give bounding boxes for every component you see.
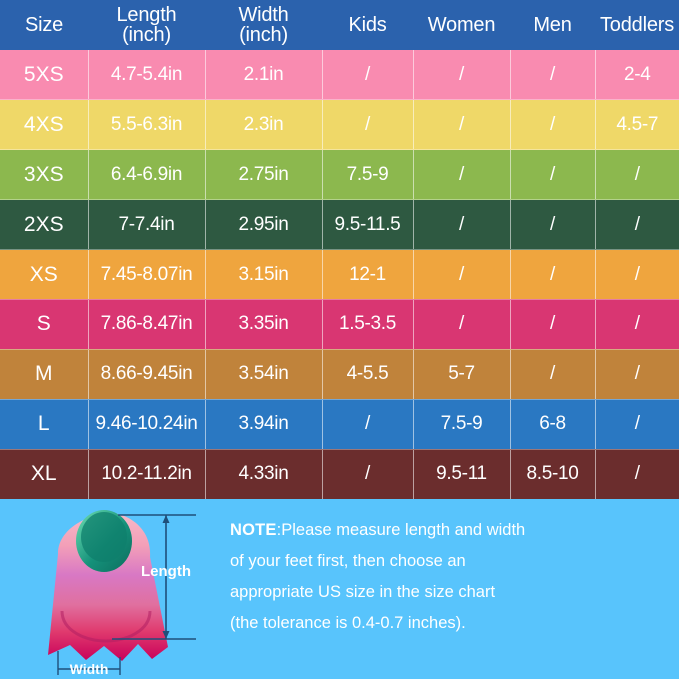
- column-header-size-label: Size: [25, 14, 63, 36]
- cell-length: 7.45-8.07in: [88, 250, 205, 300]
- table-row: 5XS4.7-5.4in2.1in///2-4: [0, 50, 679, 100]
- cell-toddlers: /: [595, 250, 679, 300]
- note-line-4: (the tolerance is 0.4-0.7 inches).: [230, 608, 665, 639]
- cell-length: 6.4-6.9in: [88, 150, 205, 200]
- note-text-block: NOTE:Please measure length and width of …: [212, 499, 679, 679]
- table-row: M8.66-9.45in3.54in4-5.55-7//: [0, 349, 679, 399]
- cell-kids: /: [322, 100, 413, 150]
- cell-kids: 9.5-11.5: [322, 200, 413, 250]
- cell-length: 10.2-11.2in: [88, 449, 205, 499]
- cell-width: 3.15in: [205, 250, 322, 300]
- cell-size: XS: [0, 250, 88, 300]
- table-row: 3XS6.4-6.9in2.75in7.5-9///: [0, 150, 679, 200]
- note-line-3: appropriate US size in the size chart: [230, 577, 665, 608]
- cell-width: 2.1in: [205, 50, 322, 100]
- length-arrow-up: [163, 515, 170, 523]
- cell-length: 4.7-5.4in: [88, 50, 205, 100]
- table-row: XL10.2-11.2in4.33in/9.5-118.5-10/: [0, 449, 679, 499]
- note-line-1-text: :Please measure length and width: [277, 521, 526, 539]
- note-label: NOTE: [230, 521, 277, 539]
- cell-women: 9.5-11: [413, 449, 510, 499]
- cell-toddlers: /: [595, 349, 679, 399]
- cell-women: 7.5-9: [413, 399, 510, 449]
- column-header-kids-label: Kids: [348, 14, 386, 36]
- column-header-length-unit: (inch): [90, 25, 203, 45]
- column-header-length: Length (inch): [88, 0, 205, 50]
- cell-width: 2.95in: [205, 200, 322, 250]
- column-header-width-label: Width: [238, 4, 288, 26]
- cell-women: /: [413, 150, 510, 200]
- column-header-kids: Kids: [322, 0, 413, 50]
- cell-men: 6-8: [510, 399, 595, 449]
- cell-size: M: [0, 349, 88, 399]
- cell-width: 3.94in: [205, 399, 322, 449]
- cell-women: /: [413, 250, 510, 300]
- table-row: XS7.45-8.07in3.15in12-1///: [0, 250, 679, 300]
- cell-men: 8.5-10: [510, 449, 595, 499]
- cell-length: 8.66-9.45in: [88, 349, 205, 399]
- cell-length: 9.46-10.24in: [88, 399, 205, 449]
- note-line-2: of your feet first, then choose an: [230, 546, 665, 577]
- table-row: L9.46-10.24in3.94in/7.5-96-8/: [0, 399, 679, 449]
- cell-men: /: [510, 299, 595, 349]
- width-label: Width: [70, 661, 109, 677]
- cell-kids: 1.5-3.5: [322, 299, 413, 349]
- column-header-width: Width (inch): [205, 0, 322, 50]
- size-chart-page: Size Length (inch) Width (inch) Kids Wom…: [0, 0, 679, 679]
- fin-foot-opening: [81, 512, 127, 562]
- cell-men: /: [510, 349, 595, 399]
- note-line-1: NOTE:Please measure length and width: [230, 515, 665, 546]
- cell-size: 3XS: [0, 150, 88, 200]
- cell-toddlers: /: [595, 399, 679, 449]
- cell-kids: /: [322, 50, 413, 100]
- cell-toddlers: 4.5-7: [595, 100, 679, 150]
- table-header: Size Length (inch) Width (inch) Kids Wom…: [0, 0, 679, 50]
- size-chart-table: Size Length (inch) Width (inch) Kids Wom…: [0, 0, 679, 499]
- cell-width: 4.33in: [205, 449, 322, 499]
- column-header-toddlers-label: Toddlers: [600, 14, 674, 36]
- cell-men: /: [510, 200, 595, 250]
- cell-kids: 12-1: [322, 250, 413, 300]
- table-row: 4XS5.5-6.3in2.3in///4.5-7: [0, 100, 679, 150]
- table-row: 2XS7-7.4in2.95in9.5-11.5///: [0, 200, 679, 250]
- fin-diagram: Length Width: [0, 499, 212, 679]
- cell-kids: /: [322, 449, 413, 499]
- cell-length: 5.5-6.3in: [88, 100, 205, 150]
- cell-length: 7-7.4in: [88, 200, 205, 250]
- cell-women: /: [413, 50, 510, 100]
- cell-kids: 4-5.5: [322, 349, 413, 399]
- cell-men: /: [510, 150, 595, 200]
- cell-toddlers: 2-4: [595, 50, 679, 100]
- cell-toddlers: /: [595, 299, 679, 349]
- column-header-length-label: Length: [117, 4, 177, 26]
- column-header-width-unit: (inch): [207, 25, 320, 45]
- cell-toddlers: /: [595, 150, 679, 200]
- length-label: Length: [141, 563, 191, 580]
- cell-men: /: [510, 100, 595, 150]
- cell-kids: /: [322, 399, 413, 449]
- cell-size: XL: [0, 449, 88, 499]
- header-row: Size Length (inch) Width (inch) Kids Wom…: [0, 0, 679, 50]
- column-header-men: Men: [510, 0, 595, 50]
- cell-women: 5-7: [413, 349, 510, 399]
- cell-length: 7.86-8.47in: [88, 299, 205, 349]
- cell-size: S: [0, 299, 88, 349]
- cell-kids: 7.5-9: [322, 150, 413, 200]
- cell-size: 2XS: [0, 200, 88, 250]
- cell-toddlers: /: [595, 449, 679, 499]
- column-header-women: Women: [413, 0, 510, 50]
- column-header-size: Size: [0, 0, 88, 50]
- cell-size: 5XS: [0, 50, 88, 100]
- cell-width: 3.54in: [205, 349, 322, 399]
- cell-men: /: [510, 250, 595, 300]
- column-header-men-label: Men: [533, 14, 571, 36]
- cell-women: /: [413, 200, 510, 250]
- cell-size: 4XS: [0, 100, 88, 150]
- table-body: 5XS4.7-5.4in2.1in///2-44XS5.5-6.3in2.3in…: [0, 50, 679, 499]
- column-header-toddlers: Toddlers: [595, 0, 679, 50]
- cell-toddlers: /: [595, 200, 679, 250]
- note-panel: Length Width NOTE:Please measure length …: [0, 499, 679, 679]
- cell-men: /: [510, 50, 595, 100]
- column-header-women-label: Women: [428, 14, 496, 36]
- cell-width: 2.3in: [205, 100, 322, 150]
- swim-fin-illustration: Length Width: [0, 499, 212, 679]
- cell-width: 3.35in: [205, 299, 322, 349]
- cell-women: /: [413, 299, 510, 349]
- cell-size: L: [0, 399, 88, 449]
- cell-women: /: [413, 100, 510, 150]
- table-row: S7.86-8.47in3.35in1.5-3.5///: [0, 299, 679, 349]
- cell-width: 2.75in: [205, 150, 322, 200]
